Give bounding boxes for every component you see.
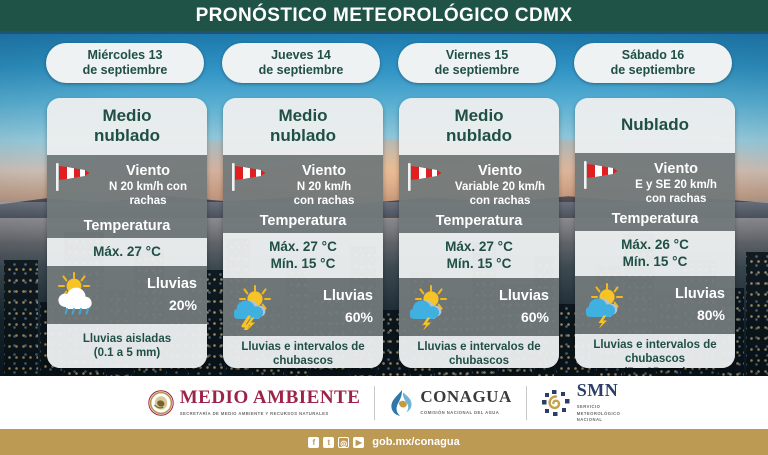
rain-label: Lluvias	[282, 286, 373, 306]
windsock-icon	[231, 162, 267, 192]
logo-text: CONAGUA COMISIÓN NACIONAL DEL AGUA	[420, 388, 511, 417]
wind-label: Viento	[623, 161, 729, 178]
temperature-label: Temperatura	[575, 208, 735, 231]
sky-condition-section: Medio nublado	[223, 98, 383, 155]
smn-spiral-icon	[541, 389, 571, 417]
header-bar: PRONÓSTICO METEOROLÓGICO CDMX	[0, 0, 768, 31]
logo-name: MEDIO AMBIENTE	[180, 387, 361, 408]
date-pill-2: Viernes 15 de septiembre	[398, 43, 556, 83]
temp-max: Máx. 27 °C	[227, 238, 379, 255]
date-line-1: Viernes 15	[446, 48, 508, 63]
wind-label: Viento	[447, 163, 553, 180]
logo-conagua: CONAGUA COMISIÓN NACIONAL DEL AGUA	[375, 388, 525, 417]
rain-probability: 60%	[458, 306, 549, 328]
wind-text: Viento E y SE 20 km/h con rachas	[623, 160, 729, 206]
footer-logo-bar: MEDIO AMBIENTE SECRETARÍA DE MEDIO AMBIE…	[0, 376, 768, 429]
sky-condition: Medio nublado	[399, 98, 559, 155]
sky-condition: Nublado	[575, 98, 735, 153]
temperature-label: Temperatura	[399, 210, 559, 233]
rain-section: Lluvias 20%	[47, 266, 207, 324]
rain-note: Lluvias aisladas (0.1 a 5 mm)	[47, 324, 207, 368]
date-line-2: de septiembre	[435, 63, 520, 78]
logo-subtitle-line-3: NACIONAL	[577, 417, 621, 424]
temp-min: Mín. 15 °C	[579, 253, 731, 270]
wind-label: Viento	[271, 163, 377, 180]
sky-condition-section: Medio nublado	[47, 98, 207, 155]
sun-cloud-rain-icon	[53, 272, 103, 318]
temperature-label: Temperatura	[223, 210, 383, 233]
wind-section: Viento E y SE 20 km/h con rachas	[575, 153, 735, 208]
date-line-1: Sábado 16	[622, 48, 685, 63]
windsock-icon	[55, 162, 91, 192]
wind-text: Viento Variable 20 km/h con rachas	[447, 162, 553, 208]
wind-value-line-2: rachas	[95, 194, 201, 208]
mexico-seal-icon	[148, 390, 174, 416]
temperature-values: Máx. 27 °C Mín. 15 °C	[223, 233, 383, 278]
logo-smn: SMN SERVICIO METEOROLÓGICO NACIONAL	[527, 381, 635, 424]
date-line-2: de septiembre	[259, 63, 344, 78]
rain-probability: 60%	[282, 306, 373, 328]
wind-label: Viento	[95, 163, 201, 180]
rain-probability: 80%	[634, 304, 725, 326]
date-line-1: Miércoles 13	[87, 48, 162, 63]
wind-text: Viento N 20 km/h con rachas	[95, 162, 201, 208]
sky-condition: Medio nublado	[223, 98, 383, 155]
wind-value-line-2: con rachas	[447, 194, 553, 208]
sun-cloud-storm-icon	[229, 284, 279, 330]
date-pill-3: Sábado 16 de septiembre	[574, 43, 732, 83]
rain-note: Lluvias e intervalos de chubascos (5 a 2…	[575, 334, 735, 368]
forecast-card-1: Medio nublado Viento N 20 km/h con racha…	[223, 98, 383, 368]
note-line-1: Lluvias e intervalos de	[593, 338, 716, 352]
sky-condition: Medio nublado	[47, 98, 207, 155]
rain-label: Lluvias	[458, 286, 549, 306]
forecast-card-0: Medio nublado Viento N 20 km/h con racha…	[47, 98, 207, 368]
logo-medio-ambiente: MEDIO AMBIENTE SECRETARÍA DE MEDIO AMBIE…	[134, 388, 375, 418]
wind-value-line-2: con rachas	[623, 192, 729, 206]
windsock-icon	[407, 162, 443, 192]
logo-text: SMN SERVICIO METEOROLÓGICO NACIONAL	[577, 381, 621, 424]
wind-section: Viento Variable 20 km/h con rachas	[399, 155, 559, 210]
wind-value-line-2: con rachas	[271, 194, 377, 208]
rain-section: Lluvias 60%	[399, 278, 559, 336]
rain-text: Lluvias 60%	[458, 286, 552, 328]
forecast-card-2: Medio nublado Viento Variable 20 km/h co…	[399, 98, 559, 368]
wind-section: Viento N 20 km/h con rachas	[223, 155, 383, 210]
rain-text: Lluvias 60%	[282, 286, 376, 328]
note-line-2: chubascos	[449, 354, 509, 368]
sun-cloud-storm-icon	[581, 282, 631, 328]
temperature-values: Máx. 27 °C	[47, 238, 207, 266]
logo-subtitle: COMISIÓN NACIONAL DEL AGUA	[420, 410, 511, 417]
date-pill-1: Jueves 14 de septiembre	[222, 43, 380, 83]
rain-section: Lluvias 60%	[223, 278, 383, 336]
wind-value-line-1: N 20 km/h	[271, 180, 377, 194]
note-line-2: chubascos	[625, 352, 685, 366]
conagua-eagle-water-icon	[389, 389, 414, 417]
rain-text: Lluvias 80%	[634, 284, 728, 326]
logo-group: MEDIO AMBIENTE SECRETARÍA DE MEDIO AMBIE…	[134, 381, 635, 424]
sky-condition-section: Nublado	[575, 98, 735, 153]
logo-name: SMN	[577, 380, 619, 400]
logo-name: CONAGUA	[420, 387, 511, 406]
temp-max: Máx. 27 °C	[51, 243, 203, 260]
temp-min: Mín. 15 °C	[227, 255, 379, 272]
logo-subtitle: SECRETARÍA DE MEDIO AMBIENTE Y RECURSOS …	[180, 411, 361, 418]
website-url[interactable]: gob.mx/conagua	[372, 436, 459, 448]
wind-section: Viento N 20 km/h con rachas	[47, 155, 207, 215]
rain-label: Lluvias	[106, 274, 197, 294]
sun-cloud-storm-icon	[405, 284, 455, 330]
note-line-1: Lluvias e intervalos de	[417, 340, 540, 354]
rain-note: Lluvias e intervalos de chubascos (5 a 2…	[223, 336, 383, 368]
facebook-icon[interactable]: f	[308, 437, 319, 448]
logo-text: MEDIO AMBIENTE SECRETARÍA DE MEDIO AMBIE…	[180, 388, 361, 418]
twitter-icon[interactable]: t	[323, 437, 334, 448]
rain-label: Lluvias	[634, 284, 725, 304]
weather-infographic: PRONÓSTICO METEOROLÓGICO CDMX	[0, 0, 768, 455]
date-line-2: de septiembre	[611, 63, 696, 78]
temp-max: Máx. 26 °C	[579, 236, 731, 253]
temperature-values: Máx. 26 °C Mín. 15 °C	[575, 231, 735, 276]
sky-condition-section: Medio nublado	[399, 98, 559, 155]
wind-value-line-1: Variable 20 km/h	[447, 180, 553, 194]
note-line-2: chubascos	[273, 354, 333, 368]
rain-probability: 20%	[106, 294, 197, 316]
wind-text: Viento N 20 km/h con rachas	[271, 162, 377, 208]
page-title: PRONÓSTICO METEOROLÓGICO CDMX	[196, 5, 573, 27]
forecast-card-3: Nublado Viento E y SE 20 km/h con rachas	[575, 98, 735, 368]
temperature-label: Temperatura	[47, 215, 207, 238]
social-url-bar: f t ◎ ▶ gob.mx/conagua	[0, 429, 768, 455]
rain-note: Lluvias e intervalos de chubascos (5 a 2…	[399, 336, 559, 368]
temperature-values: Máx. 27 °C Mín. 15 °C	[399, 233, 559, 278]
date-pill-0: Miércoles 13 de septiembre	[46, 43, 204, 83]
date-line-1: Jueves 14	[271, 48, 331, 63]
note-line-3: (5 a 25 mm)	[623, 366, 686, 368]
note-line-1: Lluvias aisladas	[83, 332, 171, 346]
rain-section: Lluvias 80%	[575, 276, 735, 334]
rain-text: Lluvias 20%	[106, 274, 200, 316]
instagram-icon[interactable]: ◎	[338, 437, 349, 448]
youtube-icon[interactable]: ▶	[353, 437, 364, 448]
windsock-icon	[583, 160, 619, 190]
wind-value-line-1: N 20 km/h con	[95, 180, 201, 194]
wind-value-line-1: E y SE 20 km/h	[623, 178, 729, 192]
date-line-2: de septiembre	[83, 63, 168, 78]
temp-min: Mín. 15 °C	[403, 255, 555, 272]
temp-max: Máx. 27 °C	[403, 238, 555, 255]
note-line-1: Lluvias e intervalos de	[241, 340, 364, 354]
note-line-2: (0.1 a 5 mm)	[94, 346, 160, 360]
